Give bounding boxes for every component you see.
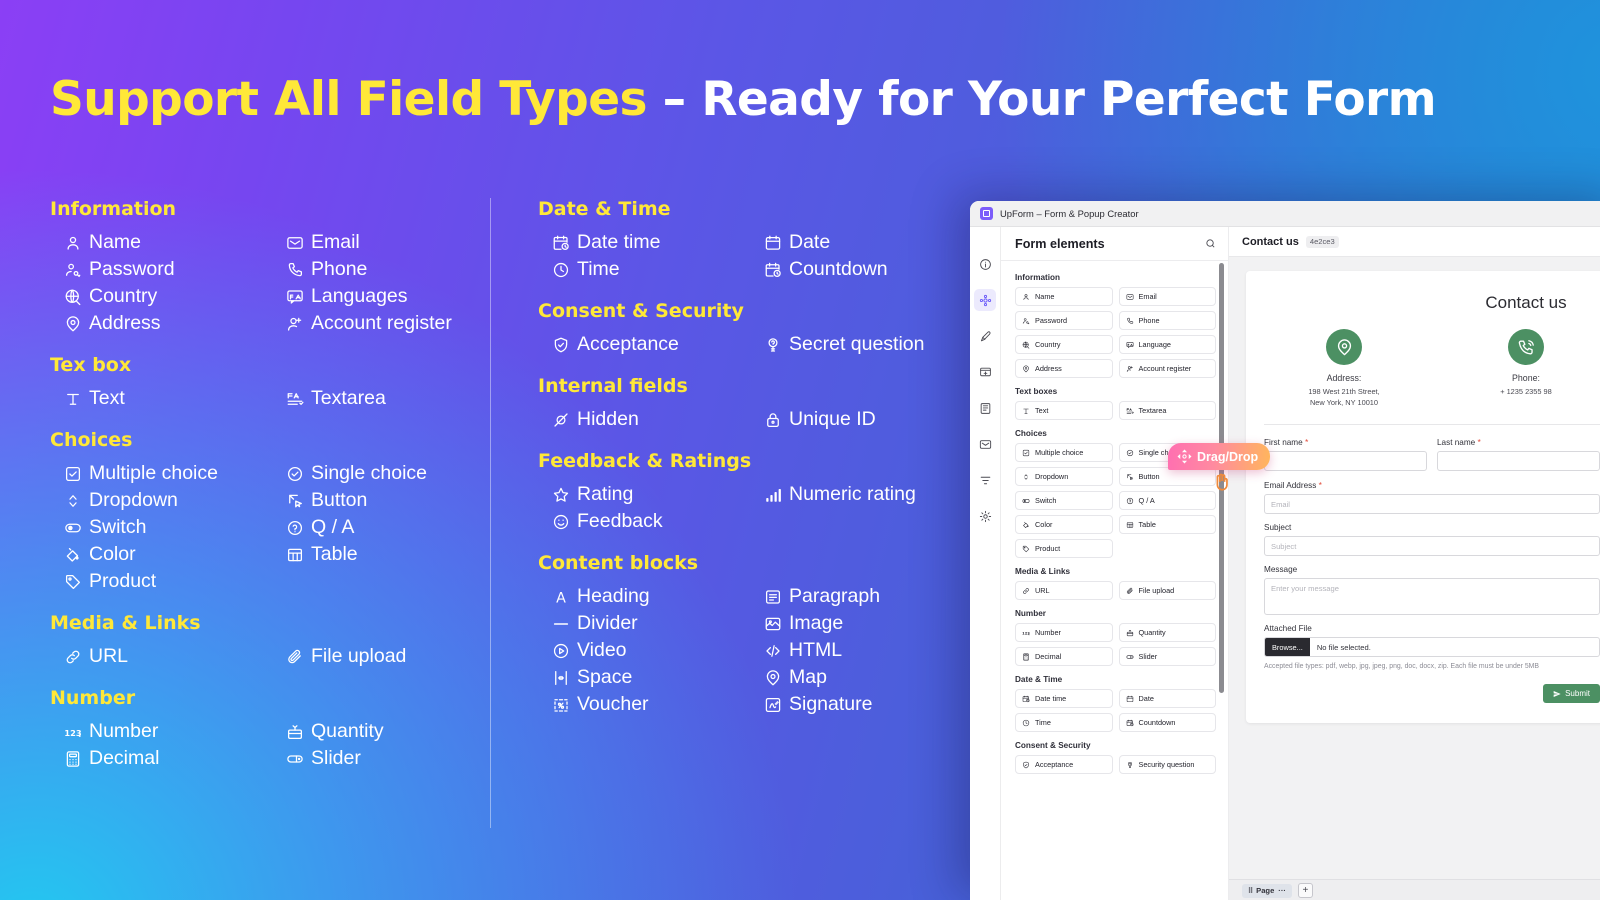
element-chip-label: Time <box>1035 718 1051 727</box>
app-titlebar: UpForm – Form & Popup Creator <box>970 201 1600 227</box>
submit-button[interactable]: Submit <box>1543 684 1600 703</box>
element-chip-label: Decimal <box>1035 652 1061 661</box>
submit-button-label: Submit <box>1565 689 1590 698</box>
element-chip[interactable]: Q / A <box>1119 491 1217 510</box>
rail-button-info[interactable] <box>974 253 996 275</box>
element-chip[interactable]: Phone <box>1119 311 1217 330</box>
feature-item: Secret question <box>764 331 958 358</box>
element-chip-label: URL <box>1035 586 1050 595</box>
toggle-icon <box>64 519 82 537</box>
play-circle-icon <box>552 642 570 660</box>
element-chip[interactable]: Switch <box>1015 491 1113 510</box>
mail-icon <box>1126 293 1134 301</box>
feature-item-label: HTML <box>789 638 842 663</box>
element-chip[interactable]: Product <box>1015 539 1113 558</box>
feature-group: Feedback & RatingsRatingFeedbackNumeric … <box>538 450 958 535</box>
feature-item: Unique ID <box>764 406 958 433</box>
feature-group: Number123NumberDecimalQuantitySlider <box>50 687 490 772</box>
element-chip-label: Date <box>1139 694 1154 703</box>
feature-item: Color <box>64 541 268 568</box>
element-chip[interactable]: Security question <box>1119 755 1217 774</box>
feature-group: Media & LinksURLFile upload <box>50 612 490 670</box>
element-chip[interactable]: Slider <box>1119 647 1217 666</box>
user-plus-icon <box>1126 365 1134 373</box>
feature-item-label: Video <box>577 638 627 663</box>
headline-rest: – Ready for Your Perfect Form <box>647 72 1436 127</box>
field-label: Message <box>1264 565 1600 574</box>
feature-item-label: Country <box>89 284 157 309</box>
element-chip[interactable]: Dropdown <box>1015 467 1113 486</box>
countdown-icon <box>1126 719 1134 727</box>
form-divider <box>1264 424 1600 425</box>
canvas-scroll-area[interactable]: Contact us Address:198 West 21th Street,… <box>1229 257 1600 879</box>
feature-item-label: Numeric rating <box>789 482 916 507</box>
app-logo-icon <box>980 207 993 220</box>
element-chip-label: Product <box>1035 544 1060 553</box>
search-icon[interactable] <box>1205 238 1216 249</box>
feature-item: Name <box>64 229 268 256</box>
svg-text:A: A <box>556 590 566 606</box>
feature-item: Signature <box>764 691 958 718</box>
element-chip[interactable]: Table <box>1119 515 1217 534</box>
feature-item: Text <box>64 385 268 412</box>
feature-item-label: Switch <box>89 515 146 540</box>
chevrons-up-down-icon <box>1022 473 1030 481</box>
calendar-clock-icon <box>552 234 570 252</box>
contact-item: Address:198 West 21th Street,New York, N… <box>1282 329 1406 408</box>
last-name-input[interactable] <box>1437 451 1600 471</box>
field-label: Attached File <box>1264 624 1600 633</box>
key-question-icon <box>764 336 782 354</box>
cursor-click-icon <box>286 492 304 510</box>
field-subject: Subject Subject <box>1264 523 1600 556</box>
element-chip-label: Security question <box>1139 760 1195 769</box>
mail-icon <box>286 234 304 252</box>
shield-check-icon <box>1022 761 1030 769</box>
element-chip-label: Multiple choice <box>1035 448 1083 457</box>
element-chip-label: Address <box>1035 364 1062 373</box>
required-marker: * <box>1305 437 1308 447</box>
link-icon <box>1022 587 1030 595</box>
element-chip-label: Button <box>1139 472 1160 481</box>
feature-group-title: Content blocks <box>538 552 958 574</box>
feature-item-label: Q / A <box>311 515 354 540</box>
element-chip[interactable]: Language <box>1119 335 1217 354</box>
feature-item-label: Table <box>311 542 358 567</box>
feature-item-label: Rating <box>577 482 633 507</box>
panel-section-label: Media & Links <box>1015 567 1216 576</box>
rail-button-settings[interactable] <box>974 505 996 527</box>
canvas-header: Contact us 4e2ce3 A <box>1229 227 1600 257</box>
feature-item-label: Map <box>789 665 827 690</box>
element-chip[interactable]: Account register <box>1119 359 1217 378</box>
headline-highlight: Support All Field Types <box>50 72 647 127</box>
panel-header: Form elements <box>1001 227 1228 261</box>
feature-item: Textarea <box>286 385 490 412</box>
panel-section-label: Date & Time <box>1015 675 1216 684</box>
table-icon <box>1126 521 1134 529</box>
element-chip[interactable]: Acceptance <box>1015 755 1113 774</box>
feature-item: File upload <box>286 643 490 670</box>
feature-item-label: Divider <box>577 611 638 636</box>
element-chip[interactable]: Textarea <box>1119 401 1217 420</box>
element-chip-label: Slider <box>1139 652 1158 661</box>
app-icon-rail <box>970 227 1001 900</box>
paperclip-icon <box>1126 587 1134 595</box>
feature-item-label: Decimal <box>89 746 159 771</box>
feature-item-label: Date <box>789 230 830 255</box>
user-key-icon <box>64 261 82 279</box>
textarea-icon <box>286 390 304 408</box>
image-icon <box>764 615 782 633</box>
panel-scroll-area[interactable]: InformationNameEmailPasswordPhoneCountry… <box>1001 261 1228 900</box>
browse-button[interactable]: Browse... <box>1265 638 1310 656</box>
feature-item-label: Paragraph <box>789 584 880 609</box>
element-chip[interactable]: Address <box>1015 359 1113 378</box>
feature-item: Switch <box>64 514 268 541</box>
element-chip-label: Password <box>1035 316 1067 325</box>
feature-item-label: File upload <box>311 644 406 669</box>
app-window-title: UpForm – Form & Popup Creator <box>1000 208 1139 219</box>
first-name-input[interactable] <box>1264 451 1427 471</box>
link-icon <box>64 648 82 666</box>
form-elements-panel: Form elements InformationNameEmailPasswo… <box>1001 227 1229 900</box>
feature-group-title: Choices <box>50 429 490 451</box>
phone-icon <box>1126 317 1134 325</box>
quantity-icon <box>286 723 304 741</box>
feature-group-title: Date & Time <box>538 198 958 220</box>
field-label: Subject <box>1264 523 1600 532</box>
feature-item-label: Acceptance <box>577 332 679 357</box>
canvas-form-title: Contact us <box>1242 236 1299 248</box>
canvas-form-id: 4e2ce3 <box>1306 236 1339 248</box>
feature-item: Account register <box>286 310 490 337</box>
feature-item: Divider <box>552 610 746 637</box>
feature-item-label: Name <box>89 230 141 255</box>
rail-button-popup[interactable] <box>974 361 996 383</box>
feature-item: Numeric rating <box>764 481 958 508</box>
panel-section-label: Choices <box>1015 429 1216 438</box>
check-circle-icon <box>286 465 304 483</box>
feature-item-label: Feedback <box>577 509 663 534</box>
form-heading: Contact us <box>1264 293 1600 313</box>
hand-icon <box>1211 470 1233 492</box>
number-123-icon: 123 <box>1022 629 1030 637</box>
feature-group: Date & TimeDate timeTimeDateCountdown <box>538 198 958 283</box>
element-chip[interactable]: Date <box>1119 689 1217 708</box>
feature-item: Date time <box>552 229 746 256</box>
element-chip[interactable]: Multiple choice <box>1015 443 1113 462</box>
page-bar: ⠿ Page ··· + <box>1229 879 1600 900</box>
element-chip[interactable]: URL <box>1015 581 1113 600</box>
feature-item: Password <box>64 256 268 283</box>
feature-item-label: Space <box>577 665 632 690</box>
element-chip-label: Country <box>1035 340 1061 349</box>
feature-group: Consent & SecurityAcceptanceSecret quest… <box>538 300 958 358</box>
feature-item-label: Account register <box>311 311 452 336</box>
languages-icon <box>286 288 304 306</box>
feature-group-title: Consent & Security <box>538 300 958 322</box>
clock-icon <box>1022 719 1030 727</box>
contact-item: Phone:+ 1235 2355 98 <box>1464 329 1588 408</box>
feature-item: Slider <box>286 745 490 772</box>
panel-section-label: Consent & Security <box>1015 741 1216 750</box>
key-question-icon <box>1126 761 1134 769</box>
panel-scrollbar[interactable] <box>1221 261 1226 900</box>
text-icon <box>64 390 82 408</box>
phone-icon <box>286 261 304 279</box>
feature-item-label: Unique ID <box>789 407 876 432</box>
element-chip-label: Language <box>1139 340 1171 349</box>
calendar-icon <box>764 234 782 252</box>
feature-group: ChoicesMultiple choiceDropdownSwitchColo… <box>50 429 490 595</box>
left-feature-column: InformationNamePasswordCountryAddressEma… <box>50 198 490 789</box>
user-icon <box>64 234 82 252</box>
color-fill-icon <box>1022 521 1030 529</box>
signature-icon <box>764 696 782 714</box>
page-tab[interactable]: ⠿ Page ··· <box>1242 884 1292 898</box>
globe-icon <box>64 288 82 306</box>
feature-item-label: Product <box>89 569 156 594</box>
feature-item: Paragraph <box>764 583 958 610</box>
element-chip[interactable]: Date time <box>1015 689 1113 708</box>
feature-item: Space <box>552 664 746 691</box>
feature-item: Country <box>64 283 268 310</box>
bar-chart-icon <box>764 486 782 504</box>
slider-icon <box>1126 653 1134 661</box>
paperclip-icon <box>286 648 304 666</box>
element-chip[interactable]: Time <box>1015 713 1113 732</box>
panel-section-label: Text boxes <box>1015 387 1216 396</box>
feature-item: Multiple choice <box>64 460 268 487</box>
clock-icon <box>552 261 570 279</box>
feature-item-label: Hidden <box>577 407 639 432</box>
element-chip-label: File upload <box>1139 586 1175 595</box>
feature-item-label: Textarea <box>311 386 386 411</box>
panel-section-label: Information <box>1015 273 1216 282</box>
element-chip[interactable]: Text <box>1015 401 1113 420</box>
field-email: Email Address * Email <box>1264 480 1600 514</box>
page-title: Support All Field Types – Ready for Your… <box>50 72 1436 127</box>
feature-item-label: Number <box>89 719 158 744</box>
feature-item-label: Countdown <box>789 257 888 282</box>
feature-item: Product <box>64 568 268 595</box>
feature-group: Tex boxTextTextarea <box>50 354 490 412</box>
feature-item-label: Quantity <box>311 719 384 744</box>
feature-group: Content blocksAHeadingDividerVideoSpaceV… <box>538 552 958 718</box>
feature-item: Date <box>764 229 958 256</box>
field-message: Message Enter your message <box>1264 565 1600 615</box>
file-upload-control[interactable]: Browse... No file selected. <box>1264 637 1600 657</box>
feature-item-label: Email <box>311 230 360 255</box>
question-circle-icon <box>286 519 304 537</box>
field-label: First name * <box>1264 437 1427 447</box>
field-last-name: Last name * <box>1437 437 1600 471</box>
table-icon <box>286 546 304 564</box>
panel-section-label: Number <box>1015 609 1216 618</box>
feature-item: Dropdown <box>64 487 268 514</box>
element-chip-label: Text <box>1035 406 1048 415</box>
countdown-icon <box>764 261 782 279</box>
feature-item: Video <box>552 637 746 664</box>
element-chip-label: Date time <box>1035 694 1066 703</box>
element-chip[interactable]: 123Number <box>1015 623 1113 642</box>
color-fill-icon <box>64 546 82 564</box>
feature-item-label: Signature <box>789 692 872 717</box>
feature-item-label: Button <box>311 488 367 513</box>
feature-item: Countdown <box>764 256 958 283</box>
tag-icon <box>64 573 82 591</box>
map-pin-icon <box>1022 365 1030 373</box>
divider-icon <box>552 615 570 633</box>
feature-group: InformationNamePasswordCountryAddressEma… <box>50 198 490 337</box>
move-icon <box>1177 449 1192 464</box>
user-icon <box>1022 293 1030 301</box>
feature-item: Quantity <box>286 718 490 745</box>
feature-group-title: Tex box <box>50 354 490 376</box>
element-chip[interactable]: Name <box>1015 287 1113 306</box>
element-chip-label: Quantity <box>1139 628 1166 637</box>
feature-item: Voucher <box>552 691 746 718</box>
feature-item-label: Phone <box>311 257 367 282</box>
rail-button-elements[interactable] <box>974 289 996 311</box>
feature-item-label: Languages <box>311 284 408 309</box>
slider-icon <box>286 750 304 768</box>
feature-item: Q / A <box>286 514 490 541</box>
element-chip[interactable]: Countdown <box>1119 713 1217 732</box>
feature-item: Hidden <box>552 406 746 433</box>
feature-item-label: Heading <box>577 584 650 609</box>
space-icon <box>552 669 570 687</box>
feature-item: Languages <box>286 283 490 310</box>
feature-item-label: Text <box>89 386 125 411</box>
middle-feature-column: Date & TimeDate timeTimeDateCountdownCon… <box>538 198 958 735</box>
feature-item: Acceptance <box>552 331 746 358</box>
element-chip-label: Q / A <box>1139 496 1155 505</box>
feature-item: Email <box>286 229 490 256</box>
paragraph-icon <box>764 588 782 606</box>
feature-item: Rating <box>552 481 746 508</box>
feature-item: Feedback <box>552 508 746 535</box>
feature-item: Single choice <box>286 460 490 487</box>
element-chip-label: Switch <box>1035 496 1057 505</box>
element-chip[interactable]: File upload <box>1119 581 1217 600</box>
rail-button-style[interactable] <box>974 325 996 347</box>
feature-item: Time <box>552 256 746 283</box>
rail-button-notifications[interactable] <box>974 433 996 455</box>
feature-item-label: Multiple choice <box>89 461 218 486</box>
element-chip[interactable]: Decimal <box>1015 647 1113 666</box>
feature-item: AHeading <box>552 583 746 610</box>
required-marker: * <box>1478 437 1481 447</box>
element-chip[interactable]: Quantity <box>1119 623 1217 642</box>
calculator-icon <box>1022 653 1030 661</box>
lock-icon <box>764 411 782 429</box>
feature-item-label: Dropdown <box>89 488 178 513</box>
calendar-clock-icon <box>1022 695 1030 703</box>
feature-item-label: Color <box>89 542 136 567</box>
feature-item-label: Password <box>89 257 175 282</box>
eye-off-icon <box>552 411 570 429</box>
feature-group: Internal fieldsHiddenUnique ID <box>538 375 958 433</box>
field-first-name: First name * <box>1264 437 1427 471</box>
contact-heading: Address: <box>1282 373 1406 383</box>
calendar-icon <box>1126 695 1134 703</box>
contact-line: + 1235 2355 98 <box>1464 386 1588 397</box>
globe-icon <box>1022 341 1030 349</box>
panel-title: Form elements <box>1015 237 1105 251</box>
user-plus-icon <box>286 315 304 333</box>
element-chip-label: Textarea <box>1139 406 1167 415</box>
number-123-icon: 123 <box>64 723 82 741</box>
element-chip[interactable]: Country <box>1015 335 1113 354</box>
feature-group-title: Media & Links <box>50 612 490 634</box>
contact-info-row: Address:198 West 21th Street,New York, N… <box>1264 329 1600 408</box>
element-chip[interactable]: Email <box>1119 287 1217 306</box>
feature-item-label: Slider <box>311 746 361 771</box>
drag-handle-icon[interactable]: ⠿ <box>1248 887 1252 895</box>
feature-item: Decimal <box>64 745 268 772</box>
element-chip-label: Account register <box>1139 364 1192 373</box>
element-chip-label: Email <box>1139 292 1157 301</box>
contact-line: 198 West 21th Street, <box>1282 386 1406 397</box>
feature-item: Image <box>764 610 958 637</box>
feature-item: Button <box>286 487 490 514</box>
element-chip-label: Color <box>1035 520 1052 529</box>
message-textarea[interactable]: Enter your message <box>1264 578 1600 615</box>
feature-item: 123Number <box>64 718 268 745</box>
subject-input[interactable]: Subject <box>1264 536 1600 556</box>
voucher-icon <box>552 696 570 714</box>
field-label: Last name * <box>1437 437 1600 447</box>
feature-group-title: Feedback & Ratings <box>538 450 958 472</box>
file-hint-text: Accepted file types: pdf, webp, jpg, jpe… <box>1264 662 1600 672</box>
feature-item-label: Time <box>577 257 620 282</box>
required-marker: * <box>1319 480 1322 490</box>
email-input[interactable]: Email <box>1264 494 1600 514</box>
rail-button-rules[interactable] <box>974 469 996 491</box>
element-chip-label: Name <box>1035 292 1054 301</box>
element-chip-label: Phone <box>1139 316 1160 325</box>
rail-button-pages[interactable] <box>974 397 996 419</box>
element-chip[interactable]: Color <box>1015 515 1113 534</box>
map-pin-icon <box>1326 329 1362 365</box>
feature-group-title: Number <box>50 687 490 709</box>
element-chip[interactable]: Password <box>1015 311 1113 330</box>
form-preview-card: Contact us Address:198 West 21th Street,… <box>1246 271 1600 723</box>
code-icon <box>764 642 782 660</box>
text-icon <box>1022 407 1030 415</box>
send-icon <box>1553 690 1561 698</box>
contact-line: New York, NY 10010 <box>1282 397 1406 408</box>
checkbox-icon <box>1022 449 1030 457</box>
feature-item-label: Voucher <box>577 692 649 717</box>
feature-item-label: Image <box>789 611 843 636</box>
drag-drop-label: Drag/Drop <box>1197 450 1258 464</box>
feature-item-label: Single choice <box>311 461 427 486</box>
add-page-button[interactable]: + <box>1298 883 1313 898</box>
field-attached-file: Attached File Browse... No file selected… <box>1264 624 1600 672</box>
field-label: Email Address * <box>1264 480 1600 490</box>
textarea-icon <box>1126 407 1134 415</box>
page-menu-icon[interactable]: ··· <box>1278 886 1286 895</box>
map-pin-icon <box>764 669 782 687</box>
smile-icon <box>552 513 570 531</box>
file-status-text: No file selected. <box>1310 638 1599 656</box>
feature-item: Phone <box>286 256 490 283</box>
feature-item: Table <box>286 541 490 568</box>
feature-item-label: Date time <box>577 230 660 255</box>
